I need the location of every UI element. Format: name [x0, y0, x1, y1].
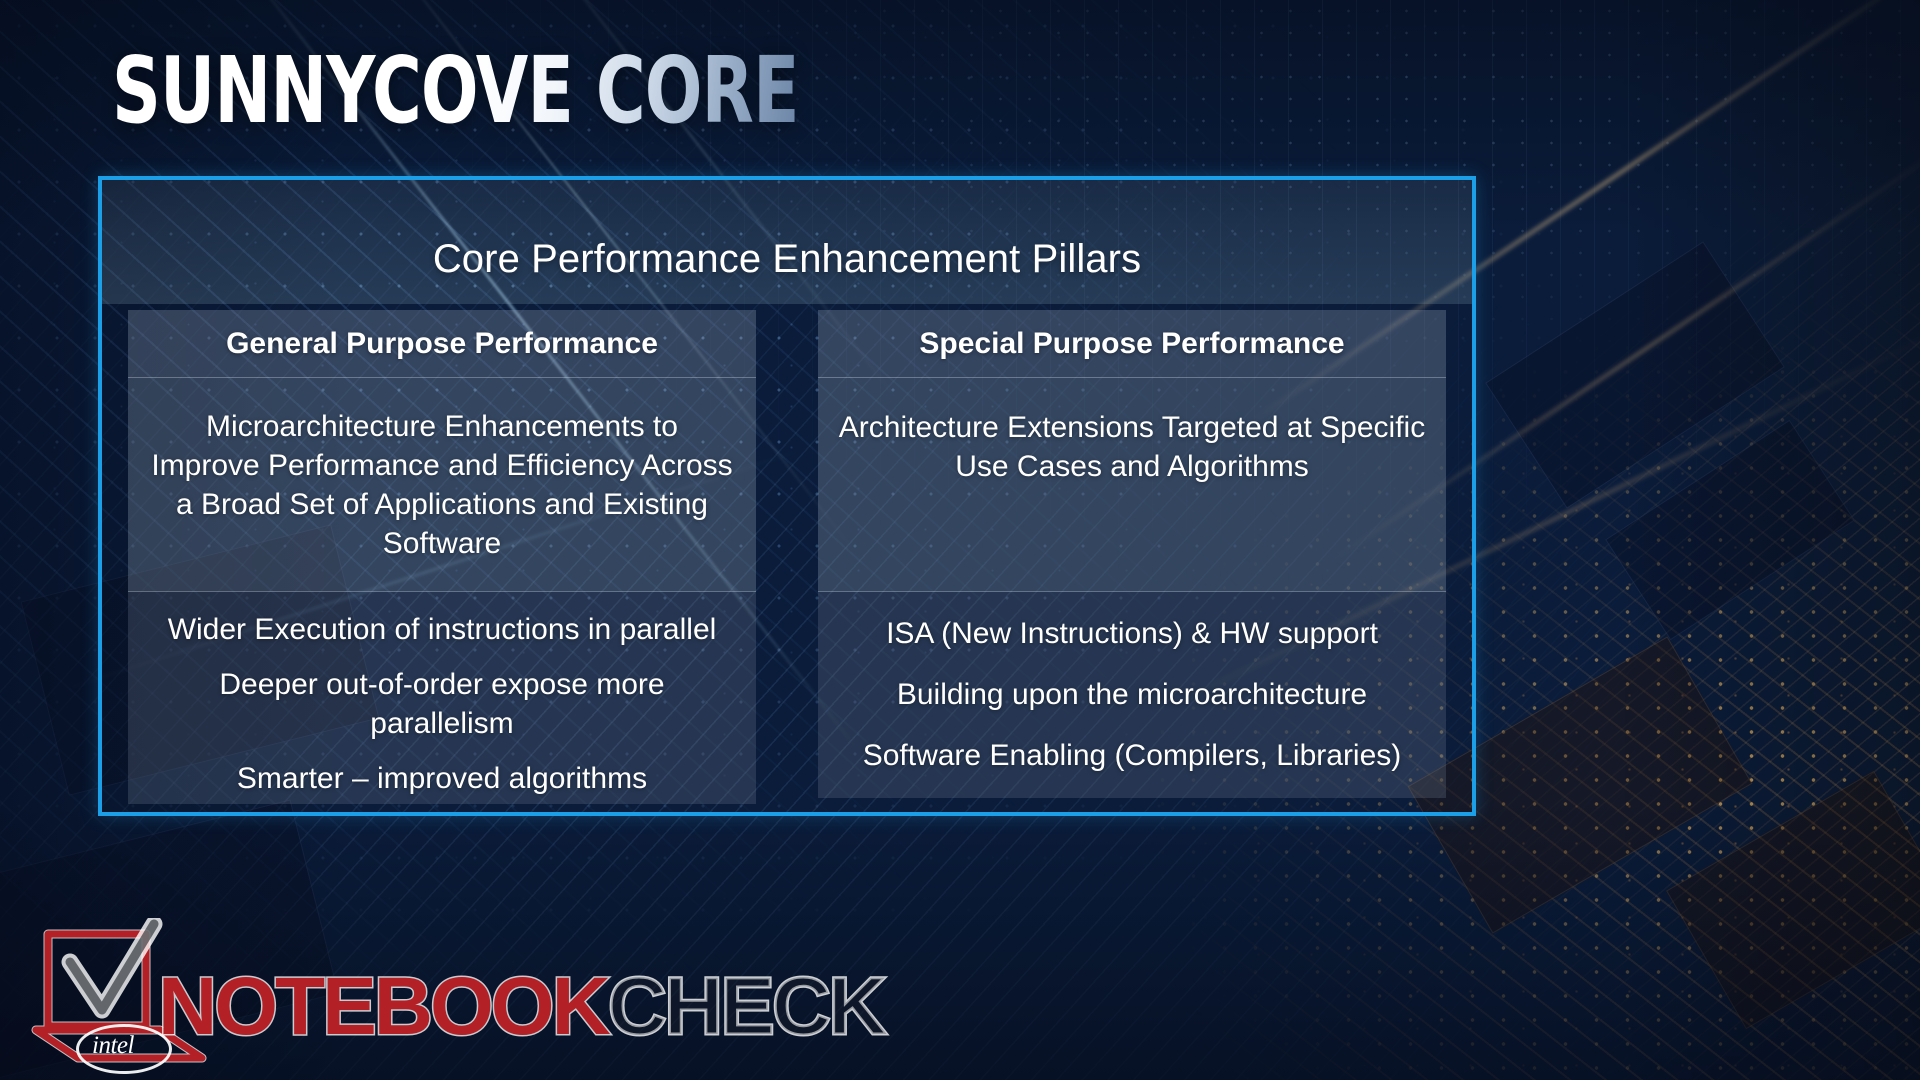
- frame-header-band: Core Performance Enhancement Pillars: [102, 180, 1472, 304]
- column-summary-cell-general: Microarchitecture Enhancements to Improv…: [128, 378, 756, 592]
- bullet-item: Smarter – improved algorithms: [148, 759, 736, 798]
- column-summary-cell-special: Architecture Extensions Targeted at Spec…: [818, 378, 1446, 592]
- column-header-special-purpose: Special Purpose Performance: [818, 310, 1446, 378]
- pillar-column-special-purpose: Special Purpose Performance Architecture…: [818, 310, 1446, 798]
- pillar-column-general-purpose: General Purpose Performance Microarchite…: [128, 310, 756, 798]
- column-bullets-cell-special: ISA (New Instructions) & HW support Buil…: [818, 592, 1446, 798]
- column-header-general-purpose: General Purpose Performance: [128, 310, 756, 378]
- column-summary-text: Architecture Extensions Targeted at Spec…: [838, 408, 1426, 486]
- bullet-item: ISA (New Instructions) & HW support: [838, 614, 1426, 653]
- bullet-item: Building upon the microarchitecture: [838, 675, 1426, 714]
- bullet-item: Deeper out-of-order expose more parallel…: [148, 665, 736, 743]
- frame-title: Core Performance Enhancement Pillars: [433, 237, 1141, 304]
- column-header-label: Special Purpose Performance: [919, 327, 1344, 361]
- column-bullets-cell-general: Wider Execution of instructions in paral…: [128, 592, 756, 804]
- column-summary-text: Microarchitecture Enhancements to Improv…: [148, 407, 736, 563]
- content-frame: Core Performance Enhancement Pillars Gen…: [98, 176, 1476, 816]
- slide-title: SUNNYCOVE CORE: [112, 44, 799, 138]
- bullet-item: Software Enabling (Compilers, Libraries): [838, 736, 1426, 775]
- bullet-item: Wider Execution of instructions in paral…: [148, 610, 736, 649]
- column-header-label: General Purpose Performance: [226, 327, 658, 361]
- pillars-columns: General Purpose Performance Microarchite…: [128, 310, 1446, 798]
